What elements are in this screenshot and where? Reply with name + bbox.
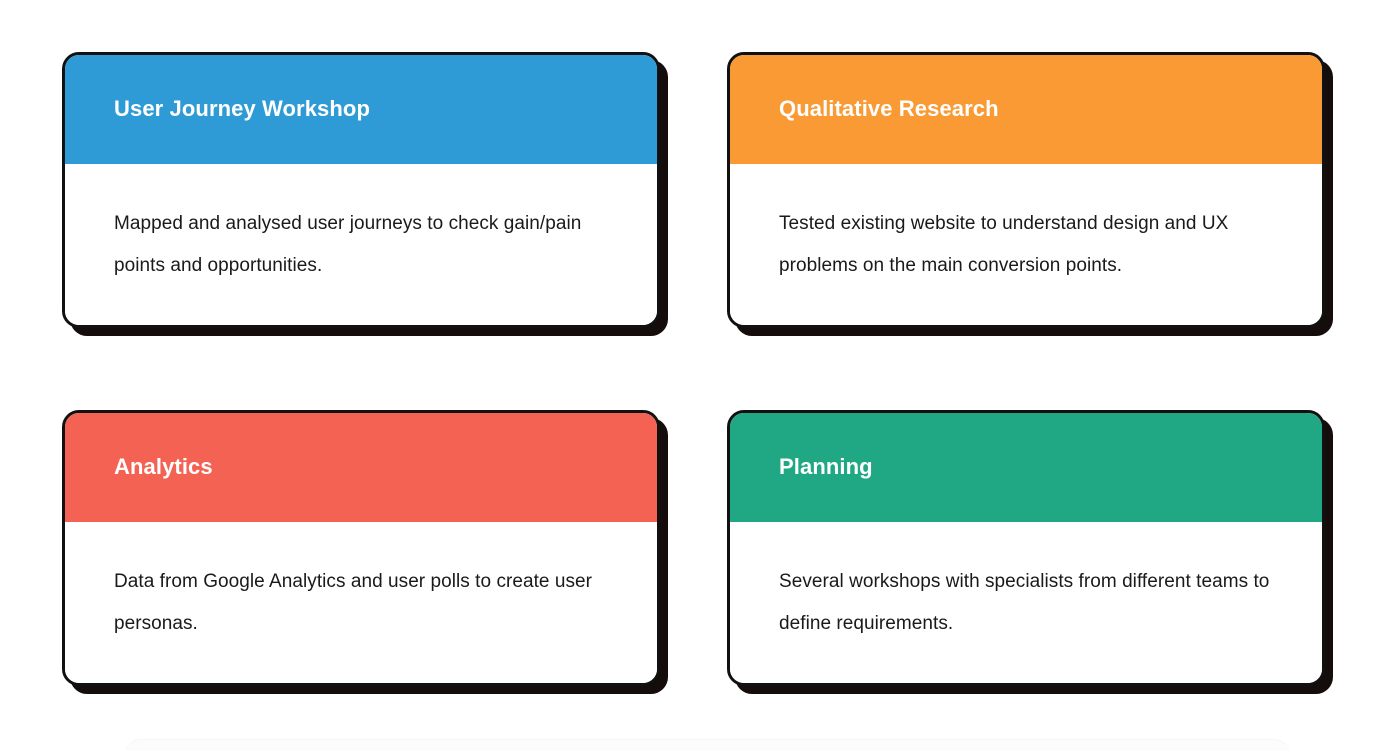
card-header: Qualitative Research xyxy=(730,55,1322,164)
next-card-preview[interactable] xyxy=(125,740,1290,751)
card-qualitative-research[interactable]: Qualitative Research Tested existing web… xyxy=(727,52,1325,328)
card-analytics[interactable]: Analytics Data from Google Analytics and… xyxy=(62,410,660,686)
card-body: Data from Google Analytics and user poll… xyxy=(65,522,657,683)
card-description: Tested existing website to understand de… xyxy=(779,203,1273,287)
card-body: Mapped and analysed user journeys to che… xyxy=(65,164,657,325)
card-description: Data from Google Analytics and user poll… xyxy=(114,561,608,645)
card-header: Analytics xyxy=(65,413,657,522)
card-user-journey-workshop[interactable]: User Journey Workshop Mapped and analyse… xyxy=(62,52,660,328)
card-title: Planning xyxy=(779,454,873,480)
card-title: User Journey Workshop xyxy=(114,96,370,122)
card-description: Several workshops with specialists from … xyxy=(779,561,1273,645)
card-description: Mapped and analysed user journeys to che… xyxy=(114,203,608,287)
card-body: Several workshops with specialists from … xyxy=(730,522,1322,683)
card-body: Tested existing website to understand de… xyxy=(730,164,1322,325)
card-planning[interactable]: Planning Several workshops with speciali… xyxy=(727,410,1325,686)
card-title: Analytics xyxy=(114,454,213,480)
card-title: Qualitative Research xyxy=(779,96,999,122)
card-header: Planning xyxy=(730,413,1322,522)
page-canvas: User Journey Workshop Mapped and analyse… xyxy=(0,0,1400,751)
card-header: User Journey Workshop xyxy=(65,55,657,164)
card-grid: User Journey Workshop Mapped and analyse… xyxy=(62,52,1334,686)
